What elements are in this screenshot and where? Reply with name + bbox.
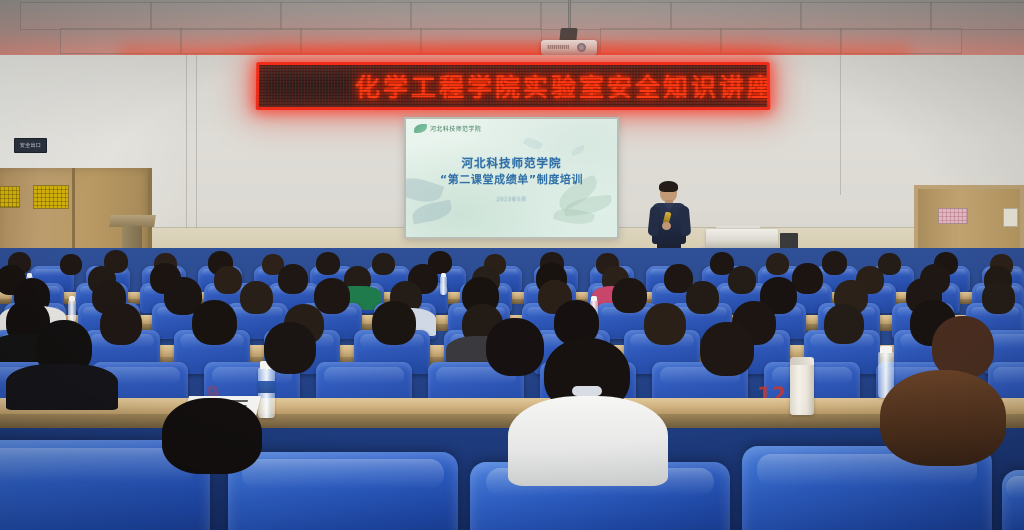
water-bottle: [258, 368, 275, 418]
slide-subtitle: “第二课堂成绩单”制度培训: [406, 171, 617, 187]
slide-logo: 河北科技师范学院: [414, 124, 481, 133]
projection-slide: 河北科技师范学院 河北科技师范学院 “第二课堂成绩单”制度培训 2023年5月: [406, 119, 617, 237]
projector-vent: [547, 45, 569, 49]
left-door-window-b: [33, 185, 69, 209]
projector-lens: [577, 43, 586, 52]
ceiling: [0, 0, 1024, 62]
wall-seam: [186, 55, 187, 245]
exit-sign: 安全出口: [14, 138, 47, 153]
right-door-window: [938, 208, 968, 224]
presenter-hair: [659, 181, 678, 192]
thermos-cup: [790, 361, 814, 415]
wall-seam: [840, 55, 841, 195]
left-door-window-a: [0, 186, 20, 208]
school-logo-icon: [414, 124, 427, 133]
slide-title: 河北科技师范学院: [406, 155, 617, 171]
led-banner-text: 化学工程学院实验室安全知识讲座: [259, 68, 767, 104]
exit-sign-text: 安全出口: [20, 142, 41, 149]
led-banner: 化学工程学院实验室安全知识讲座: [256, 62, 771, 110]
slide-date: 2023年5月: [406, 196, 617, 203]
av-console: [706, 229, 778, 249]
wall-seam: [196, 55, 197, 245]
white-shirt: [508, 396, 668, 486]
wall-notice: [1003, 208, 1018, 227]
slide-logo-text: 河北科技师范学院: [430, 124, 481, 133]
left-door-split: [72, 168, 75, 260]
lecture-hall-photo: 化学工程学院实验室安全知识讲座 河北科技师范学院 河北科技师范学院 “第二课堂成…: [0, 0, 1024, 530]
